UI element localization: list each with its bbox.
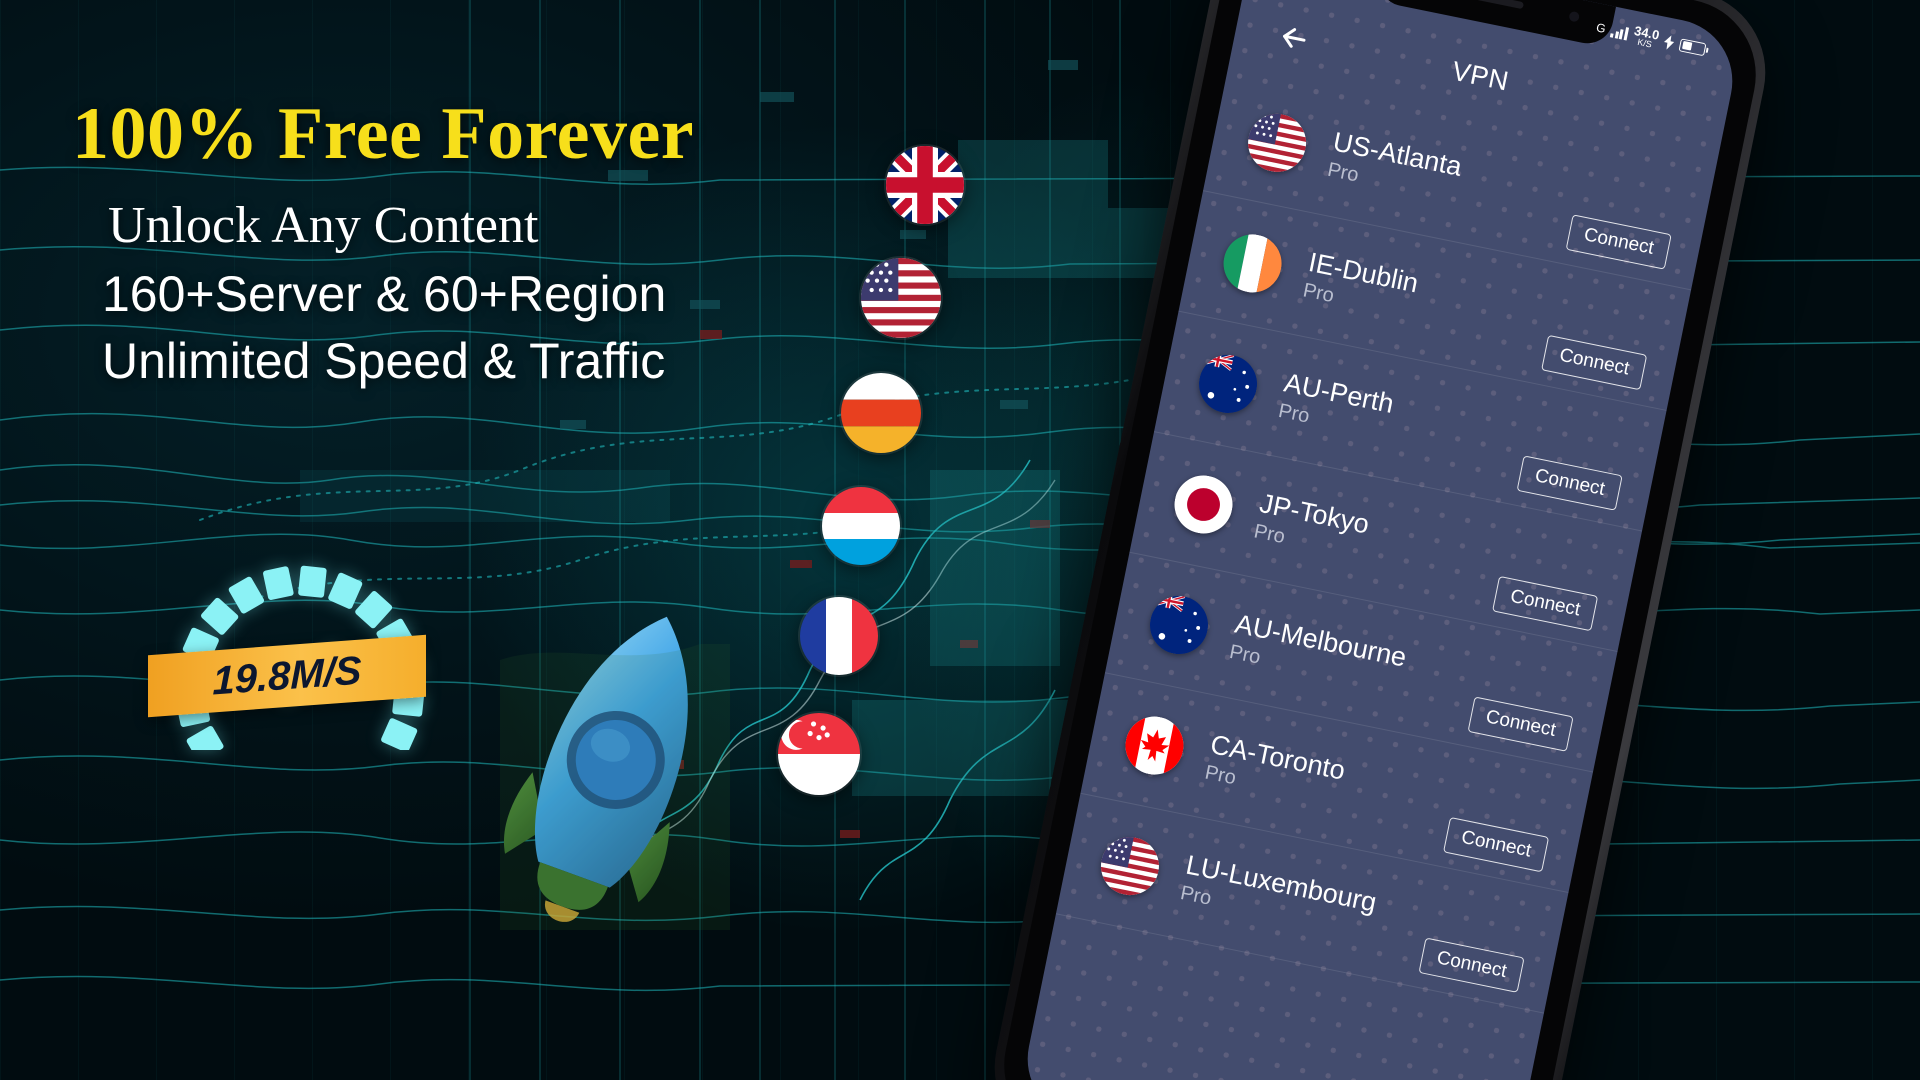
au-flag-icon (1194, 350, 1262, 418)
floating-flag-us (861, 258, 941, 338)
server-info: AU-Perth Pro (1276, 367, 1531, 472)
floating-flag-gb (886, 146, 964, 224)
connect-button[interactable]: Connect (1541, 335, 1647, 390)
battery-icon (1679, 38, 1707, 56)
us-flag-icon (1096, 832, 1164, 900)
ie-flag-icon (1218, 229, 1286, 297)
connect-button[interactable]: Connect (1419, 938, 1525, 993)
connect-button[interactable]: Connect (1517, 455, 1623, 510)
rocket-illustration (500, 600, 730, 930)
floating-flag-fr (800, 597, 878, 675)
server-info: JP-Tokyo Pro (1252, 488, 1507, 593)
au-flag-icon (1145, 591, 1213, 659)
jp-flag-icon (1169, 470, 1237, 538)
background-bar-3 (930, 470, 1060, 666)
floating-flag-sg (778, 713, 860, 795)
connect-button[interactable]: Connect (1492, 576, 1598, 631)
us-flag-icon (1243, 109, 1311, 177)
server-info: US-Atlanta Pro (1325, 126, 1580, 231)
connect-button[interactable]: Connect (1566, 214, 1672, 269)
background-bar-4 (852, 700, 1072, 796)
connect-button[interactable]: Connect (1468, 696, 1574, 751)
connect-button[interactable]: Connect (1443, 817, 1549, 872)
background-bar-5 (300, 470, 670, 522)
network-type-label: G (1595, 20, 1607, 36)
background-bar-1 (958, 140, 1108, 208)
floating-flag-lu (822, 487, 900, 565)
server-info: AU-Melbourne Pro (1227, 609, 1482, 714)
signal-bars-icon (1610, 24, 1629, 40)
server-info: CA-Toronto Pro (1203, 729, 1458, 834)
promo-subline-1: Unlock Any Content (108, 196, 538, 255)
floating-flag-de (841, 373, 921, 453)
server-info: LU-Luxembourg Pro (1178, 850, 1433, 955)
page-title: 100% Free Forever (72, 92, 694, 177)
lightning-bolt-icon (1663, 34, 1676, 51)
promo-subline-3: Unlimited Speed & Traffic (102, 332, 665, 390)
promo-subline-2: 160+Server & 60+Region (102, 265, 666, 323)
ca-flag-icon (1120, 711, 1188, 779)
server-info: IE-Dublin Pro (1301, 247, 1556, 352)
data-speed-indicator: 34.0 K/S (1631, 24, 1660, 51)
